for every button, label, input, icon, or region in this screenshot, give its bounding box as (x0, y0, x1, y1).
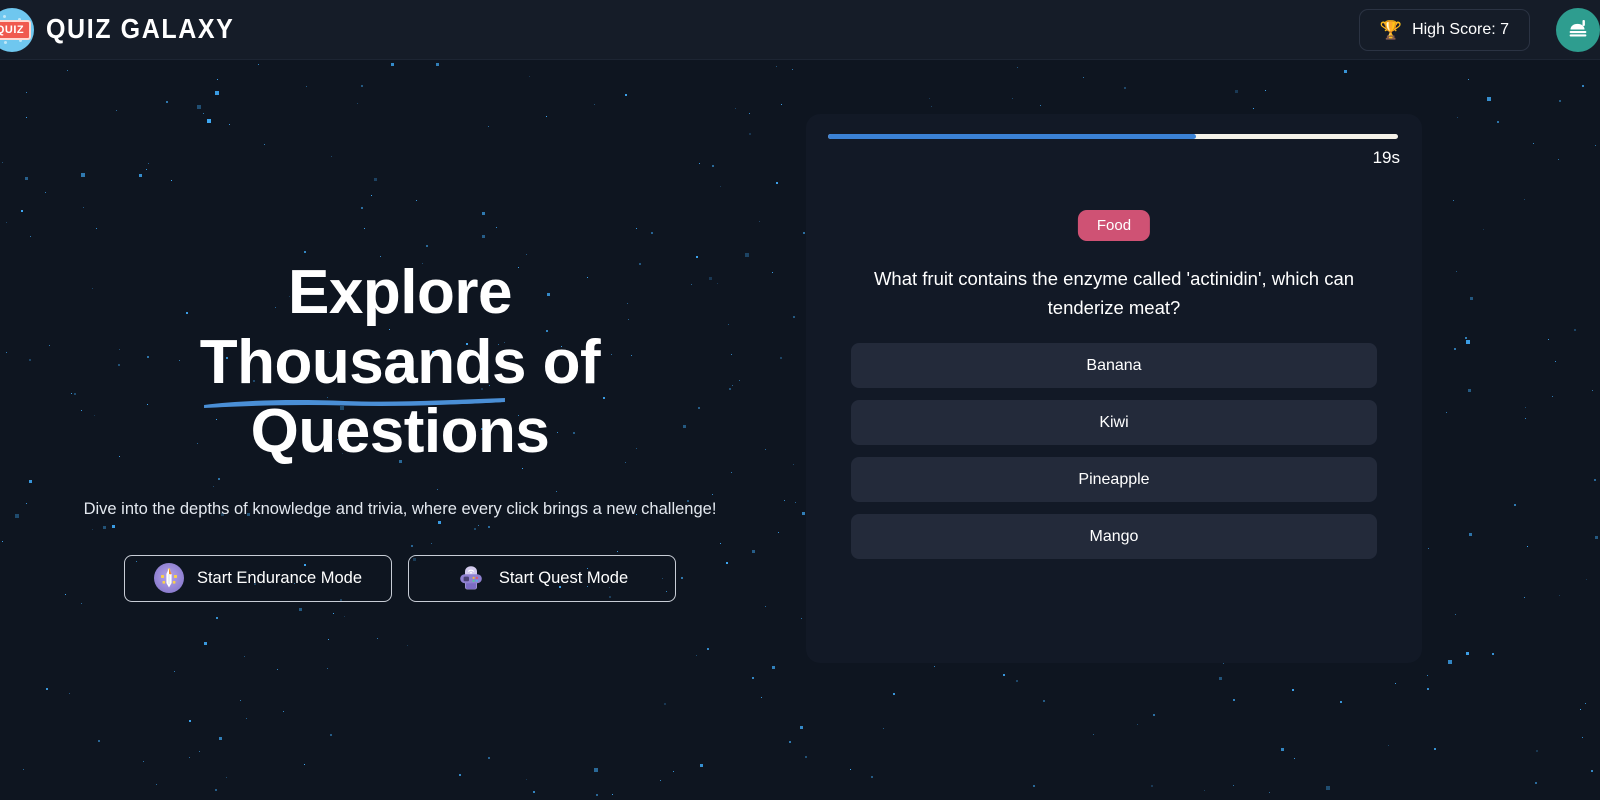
hero-actions: Start Endurance Mode Start Quest Mode (124, 555, 676, 602)
star (1456, 271, 1457, 272)
hero-title-part-1: Explore (288, 258, 512, 327)
star (1040, 105, 1041, 106)
category-badge: Food (1078, 210, 1150, 241)
answer-option-3[interactable]: Pineapple (851, 457, 1377, 502)
star (893, 693, 895, 695)
star (1524, 199, 1525, 200)
hero-section: Explore Thousands of Questions Dive into… (0, 60, 800, 800)
star (1552, 396, 1553, 397)
star (850, 769, 851, 770)
star (1017, 67, 1018, 68)
star (1559, 100, 1561, 102)
quiz-progress-fill (828, 134, 1196, 139)
star (1582, 737, 1583, 738)
star (1548, 339, 1549, 340)
star (1265, 90, 1266, 91)
high-score-label: High Score: 7 (1412, 21, 1509, 39)
star (1093, 734, 1094, 735)
start-endurance-mode-button[interactable]: Start Endurance Mode (124, 555, 392, 602)
star (1388, 745, 1389, 746)
star (1344, 70, 1347, 73)
star (1233, 785, 1234, 786)
star (805, 756, 807, 758)
hero-subtitle: Dive into the depths of knowledge and tr… (84, 500, 717, 519)
star (1535, 782, 1537, 784)
star (1468, 79, 1469, 80)
star (1235, 90, 1238, 93)
header-right: 🏆 High Score: 7 (1359, 8, 1582, 52)
brand-name: QUIZ GALAXY (46, 13, 234, 45)
star (1124, 87, 1126, 89)
star (1592, 390, 1593, 391)
start-quest-mode-label: Start Quest Mode (499, 569, 628, 588)
star (1454, 348, 1456, 350)
burger-avatar-icon (1565, 17, 1591, 43)
quiz-progress-bar (828, 134, 1398, 139)
star (1269, 792, 1270, 793)
star (1595, 536, 1598, 539)
star (1281, 748, 1284, 751)
star (1525, 418, 1526, 419)
quiz-card: 19s Food What fruit contains the enzyme … (806, 114, 1422, 663)
star (1594, 479, 1596, 481)
star (1470, 297, 1473, 300)
star (1395, 683, 1396, 684)
star (1580, 709, 1581, 710)
star (1492, 653, 1494, 655)
star (1153, 714, 1155, 716)
start-endurance-mode-label: Start Endurance Mode (197, 569, 362, 588)
star (1465, 337, 1467, 339)
star (871, 776, 873, 778)
star (1253, 108, 1254, 109)
star (1428, 548, 1429, 549)
star (1585, 703, 1586, 704)
brand-badge-text: QUIZ (0, 20, 31, 40)
star (1558, 159, 1559, 160)
hero-title-part-2: Thousands of (200, 328, 600, 397)
star (1204, 790, 1205, 791)
star (1527, 546, 1528, 547)
star (931, 106, 932, 107)
star (1468, 389, 1471, 392)
answer-options: Banana Kiwi Pineapple Mango (851, 343, 1377, 559)
star (1033, 785, 1035, 787)
answer-option-1[interactable]: Banana (851, 343, 1377, 388)
star (929, 98, 930, 99)
star (1487, 97, 1491, 101)
star (1524, 597, 1525, 598)
star (1292, 689, 1294, 691)
star (1525, 407, 1526, 408)
star (1466, 652, 1469, 655)
star (1294, 758, 1295, 759)
star (1453, 200, 1454, 201)
app-header: QUIZ QUIZ GALAXY 🏆 High Score: 7 (0, 0, 1600, 60)
star (1427, 675, 1428, 676)
timer-label: 19s (1373, 148, 1400, 168)
avatar[interactable] (1556, 8, 1600, 52)
star (1083, 77, 1084, 78)
star (1466, 340, 1470, 344)
star (1223, 663, 1224, 664)
star (1151, 785, 1153, 787)
star (1043, 700, 1045, 702)
star (802, 512, 805, 515)
star (1533, 143, 1534, 144)
star (1555, 361, 1556, 362)
star (1497, 121, 1499, 123)
star (1233, 699, 1235, 701)
trophy-icon: 🏆 (1380, 21, 1402, 39)
star (1536, 750, 1538, 752)
star (1016, 680, 1018, 682)
star (1434, 748, 1436, 750)
star (1340, 701, 1342, 703)
star (1427, 688, 1429, 690)
star (1137, 724, 1138, 725)
star (1455, 614, 1456, 615)
rocket-burst-icon (154, 563, 184, 593)
star (1012, 98, 1013, 99)
star (800, 726, 803, 729)
hero-title-highlight-wrap: Thousands of (200, 328, 600, 397)
star (1574, 329, 1576, 331)
star (1586, 579, 1587, 580)
star (1559, 595, 1560, 596)
high-score-badge[interactable]: 🏆 High Score: 7 (1359, 9, 1530, 51)
star (1469, 533, 1472, 536)
hero-title-line-2: Questions (251, 397, 550, 466)
answer-option-2[interactable]: Kiwi (851, 400, 1377, 445)
star (1483, 229, 1484, 230)
star (934, 666, 935, 667)
quiz-badge-logo-icon: QUIZ (0, 8, 34, 52)
star (1591, 770, 1593, 772)
star (1448, 660, 1452, 664)
star (1219, 677, 1222, 680)
star (1446, 412, 1447, 413)
star (1595, 145, 1596, 146)
answer-option-4[interactable]: Mango (851, 514, 1377, 559)
star (803, 232, 805, 234)
star (883, 728, 884, 729)
game-controller-icon (456, 563, 486, 593)
page-title: Explore Thousands of Questions (90, 258, 710, 466)
star (1003, 674, 1005, 676)
start-quest-mode-button[interactable]: Start Quest Mode (408, 555, 676, 602)
star (1514, 504, 1516, 506)
star (801, 618, 802, 619)
star (1582, 85, 1584, 87)
question-text: What fruit contains the enzyme called 'a… (864, 264, 1364, 322)
brand[interactable]: QUIZ QUIZ GALAXY (0, 8, 234, 52)
star (1457, 117, 1458, 118)
star (1326, 786, 1330, 790)
